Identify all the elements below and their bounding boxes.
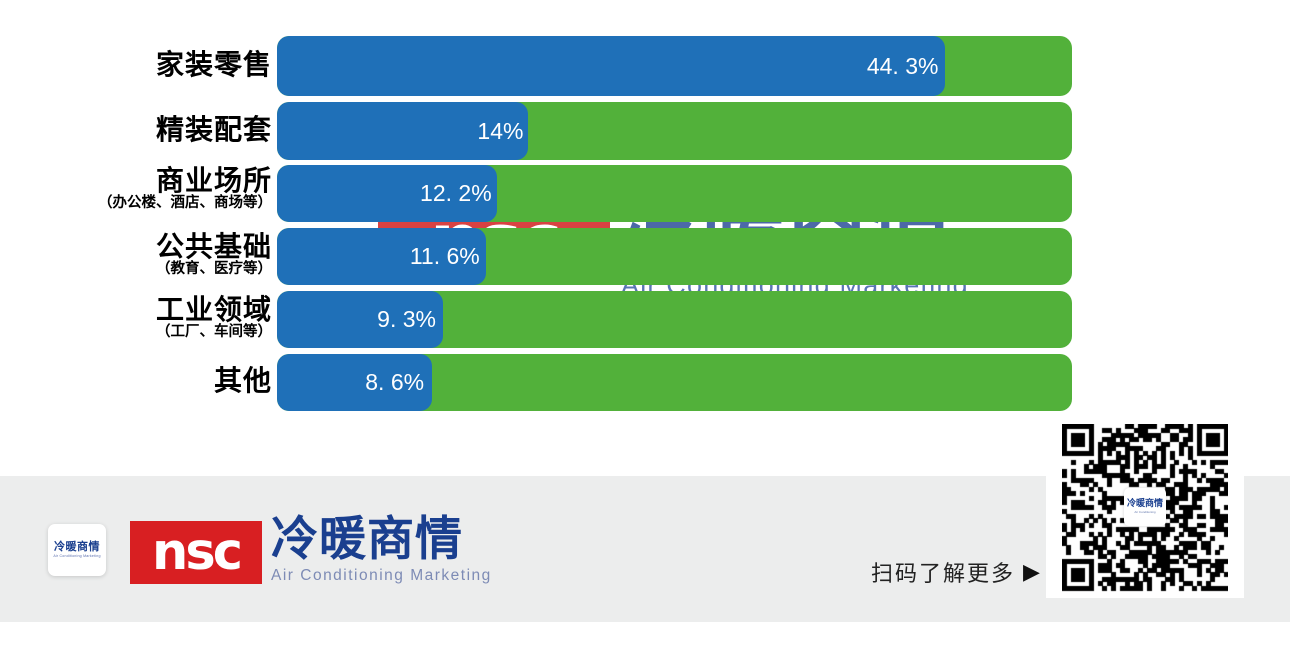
play-arrow-icon: ▶ bbox=[1023, 561, 1040, 583]
brand-english-name: Air Conditioning Marketing bbox=[271, 568, 492, 584]
bar-value-label: 9. 3% bbox=[377, 291, 436, 348]
footer-badge-chinese: 冷暖商情 bbox=[54, 541, 100, 552]
footer-badge-icon: 冷暖商情 Air Conditioning Marketing bbox=[48, 524, 106, 576]
row-label-main: 其他 bbox=[2, 366, 272, 395]
scan-cta[interactable]: 扫码了解更多 ▶ bbox=[871, 556, 1040, 588]
row-label-main: 商业场所 bbox=[2, 166, 272, 195]
bar-track: 44. 3% bbox=[277, 36, 1072, 96]
brand-nsc-block: nsc bbox=[130, 521, 262, 584]
chart-row: 精装配套 14% bbox=[0, 102, 1290, 160]
qr-center-chinese: 冷暖商情 bbox=[1127, 500, 1163, 509]
bar-track: 12. 2% bbox=[277, 165, 1072, 222]
bar-track: 9. 3% bbox=[277, 291, 1072, 348]
brand-mark: nsc 冷暖商情 Air Conditioning Marketing bbox=[130, 516, 492, 584]
bar-chart-rows: 家装零售 44. 3% 精装配套 14% 商业场所 （办公楼、酒店、商场等） bbox=[0, 0, 1290, 475]
row-label-sub: （教育、医疗等） bbox=[2, 262, 272, 278]
bar-value-label: 8. 6% bbox=[365, 354, 424, 411]
qr-center-english: Air Conditioning bbox=[1134, 511, 1155, 514]
chart-area: nsc 冷暖商情 Air Conditioning Marketing 家装零售… bbox=[0, 0, 1290, 475]
row-label-main: 公共基础 bbox=[2, 232, 272, 261]
row-label: 商业场所 （办公楼、酒店、商场等） bbox=[2, 166, 272, 212]
bar-track: 11. 6% bbox=[277, 228, 1072, 285]
row-label-sub: （工厂、车间等） bbox=[2, 325, 272, 341]
chart-row: 工业领域 （工厂、车间等） 9. 3% bbox=[0, 291, 1290, 348]
row-label-main: 工业领域 bbox=[2, 295, 272, 324]
bar-fill bbox=[277, 36, 945, 96]
brand-nsc-text: nsc bbox=[152, 527, 240, 578]
brand-chinese-name: 冷暖商情 bbox=[271, 516, 492, 563]
qr-code-card[interactable]: 冷暖商情 Air Conditioning bbox=[1046, 420, 1244, 598]
row-label: 精装配套 bbox=[2, 115, 272, 144]
row-label-sub: （办公楼、酒店、商场等） bbox=[2, 196, 272, 212]
row-label: 家装零售 bbox=[2, 50, 272, 79]
bar-track: 14% bbox=[277, 102, 1072, 160]
bar-track: 8. 6% bbox=[277, 354, 1072, 411]
chart-row: 家装零售 44. 3% bbox=[0, 36, 1290, 96]
bar-value-label: 44. 3% bbox=[867, 36, 939, 96]
chart-row: 商业场所 （办公楼、酒店、商场等） 12. 2% bbox=[0, 165, 1290, 222]
footer-logo: 冷暖商情 Air Conditioning Marketing nsc 冷暖商情… bbox=[48, 516, 492, 584]
row-label-main: 精装配套 bbox=[2, 115, 272, 144]
bar-value-label: 14% bbox=[477, 102, 523, 160]
chart-row: 公共基础 （教育、医疗等） 11. 6% bbox=[0, 228, 1290, 285]
row-label: 公共基础 （教育、医疗等） bbox=[2, 232, 272, 278]
bar-value-label: 12. 2% bbox=[420, 165, 492, 222]
scan-cta-label: 扫码了解更多 bbox=[871, 556, 1015, 588]
row-label-main: 家装零售 bbox=[2, 50, 272, 79]
brand-text-group: 冷暖商情 Air Conditioning Marketing bbox=[271, 516, 492, 584]
bar-value-label: 11. 6% bbox=[410, 228, 480, 285]
row-label: 工业领域 （工厂、车间等） bbox=[2, 295, 272, 341]
footer-badge-english: Air Conditioning Marketing bbox=[53, 555, 100, 559]
row-label: 其他 bbox=[2, 366, 272, 395]
chart-row: 其他 8. 6% bbox=[0, 354, 1290, 411]
qr-center-logo: 冷暖商情 Air Conditioning bbox=[1124, 488, 1166, 526]
